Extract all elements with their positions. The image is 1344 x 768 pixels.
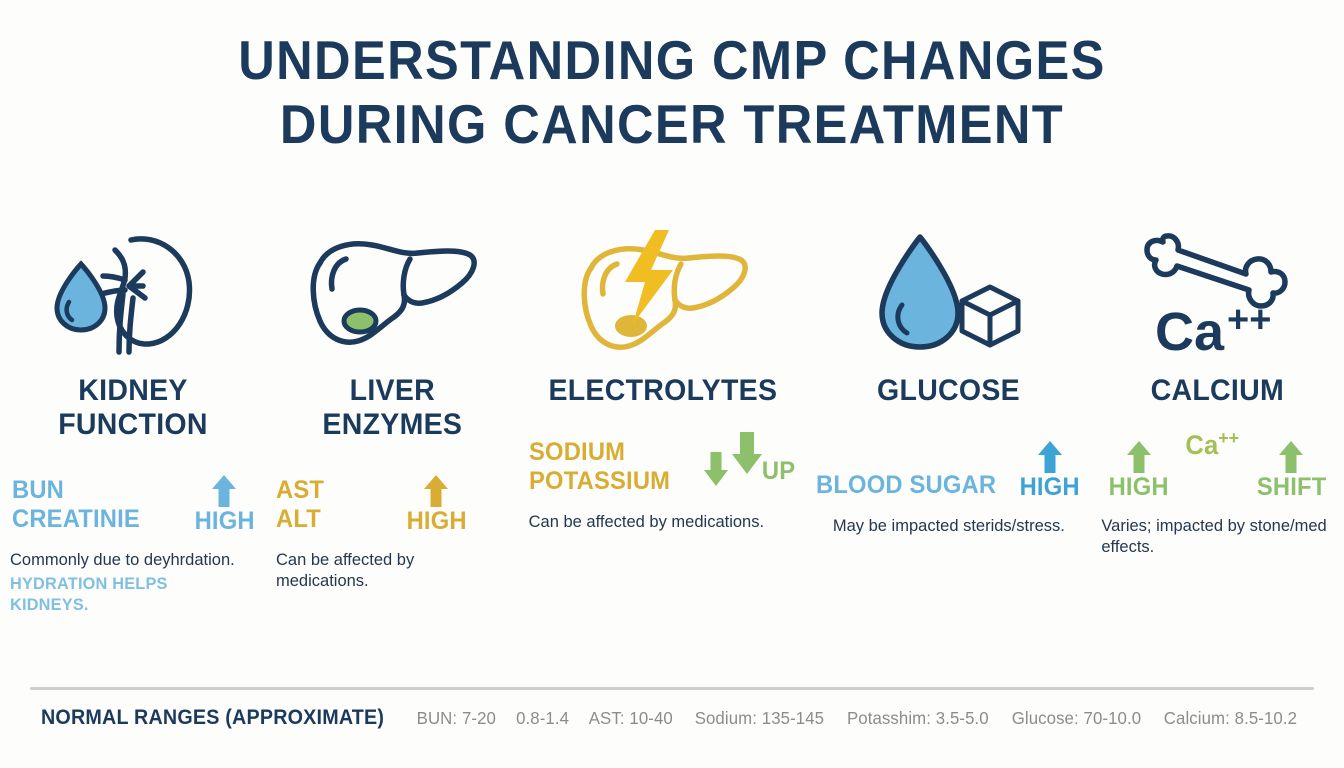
trend-indicator: HIGH [405,473,468,534]
analyte-ast: AST [276,476,324,505]
analyte-list: BUN CREATINIE [12,476,140,534]
calcium-ion-label: Ca++ [1186,428,1240,461]
body-copy: Can be affected by medications. [276,550,509,592]
marker-row: HIGH Ca++ SHIFT [1101,428,1334,500]
kidney-droplet-icon [10,222,256,364]
marker-row: BUN CREATINIE HIGH [10,462,256,534]
column-electrolytes: ELECTROLYTES SODIUM POTASSIUM UP Ca [519,222,807,533]
body-text: Varies; impacted by stone/med effects. [1101,517,1326,556]
title-line-1: UNDERSTANDING CMP CHANGES [54,28,1290,92]
column-glucose: GLUCOSE BLOOD SUGAR HIGH May be impacted… [806,222,1091,537]
column-title: ELECTROLYTES [535,374,789,408]
arrow-down-small-icon [703,448,729,488]
droplet-sugarcube-icon [816,222,1081,364]
footer-divider [30,687,1314,690]
trend-label-2: SHIFT [1257,475,1327,500]
calcium-symbol: Ca [1186,430,1219,460]
marker-row: BLOOD SUGAR HIGH [816,428,1081,500]
column-title: CALCIUM [1107,374,1328,408]
analyte-potassium: POTASSIUM [529,467,670,496]
trend-label: HIGH [1020,475,1080,500]
body-copy: Can be affected by medications. [529,512,797,533]
footer-range-sodium: Sodium: 135-145 [695,708,824,729]
liver-lightning-icon [529,222,797,364]
analyte-list: AST ALT [276,476,324,534]
trend-label: HIGH [406,509,466,534]
analyte-alt: ALT [276,505,324,534]
trend-label: HIGH [194,509,254,534]
column-kidney-function: KIDNEY FUNCTION BUN CREATINIE HIGH Commo… [0,222,266,615]
arrow-up-icon [1277,439,1305,475]
liver-icon [276,222,509,364]
column-title: GLUCOSE [823,374,1075,408]
column-title: KIDNEY FUNCTION [16,374,250,442]
title-line-2: DURING CANCER TREATMENT [54,92,1290,156]
body-text: Can be affected by medications. [276,551,414,590]
trend-indicator: HIGH [193,473,256,534]
footer: NORMAL RANGES (APPROXIMATE) BUN: 7-20 0.… [30,706,1320,730]
column-calcium: Ca ++ CALCIUM HIGH Ca++ SHIFT [1091,222,1344,558]
footer-range-glucose: Glucose: 70-10.0 [1012,708,1141,729]
body-copy: Varies; impacted by stone/med effects. [1101,516,1334,558]
trend-label: UP [762,459,795,484]
column-title: LIVER ENZYMES [282,374,503,442]
footer-range-potassium: Potasshim: 3.5-5.0 [847,708,989,729]
arrow-up-icon [1036,439,1064,475]
body-highlight: HYDRATION HELPS KIDNEYS. [10,573,246,615]
page-title: UNDERSTANDING CMP CHANGES DURING CANCER … [0,28,1344,156]
marker-row: SODIUM POTASSIUM UP [529,428,797,506]
infographic-page: UNDERSTANDING CMP CHANGES DURING CANCER … [0,0,1344,768]
trend-indicator: UP [703,428,796,484]
body-text: May be impacted sterids/stress. [833,517,1065,535]
arrow-down-large-icon [731,428,763,476]
body-copy: Commonly due to deyhrdation. HYDRATION H… [10,550,256,615]
footer-range-list: BUN: 7-20 0.8-1.4 AST: 10-40 Sodium: 135… [415,708,1320,729]
marker-row: AST ALT HIGH [276,462,509,534]
footer-range-calcium: Calcium: 8.5-10.2 [1164,708,1297,729]
trend-indicator-shift: SHIFT [1255,439,1328,500]
analyte-creatinine: CREATINIE [12,505,140,534]
analyte-bun: BUN [12,476,140,505]
arrow-up-icon [1125,439,1153,475]
svg-text:++: ++ [1227,299,1271,341]
trend-indicator: HIGH [1018,439,1081,500]
body-text: Commonly due to deyhrdation. [10,551,235,569]
calcium-charge: ++ [1219,428,1240,449]
trend-indicator-high: HIGH [1107,439,1170,500]
footer-range-bun: BUN: 7-20 [417,708,496,729]
body-copy: May be impacted sterids/stress. [816,516,1081,537]
analyte-blood-sugar: BLOOD SUGAR [816,471,996,500]
analyte-sodium: SODIUM [529,438,670,467]
column-liver-enzymes: LIVER ENZYMES AST ALT HIGH Can be affect… [266,222,519,592]
bone-calcium-icon: Ca ++ [1101,222,1334,364]
footer-range-ast: AST: 10-40 [589,708,673,729]
marker-columns: KIDNEY FUNCTION BUN CREATINIE HIGH Commo… [0,222,1344,615]
trend-label: HIGH [1109,475,1169,500]
analyte-list: BLOOD SUGAR [816,471,996,500]
analyte-list: SODIUM POTASSIUM [529,438,670,496]
body-text: Can be affected by medications. [529,513,764,531]
arrow-up-icon [422,473,450,509]
footer-title: NORMAL RANGES (APPROXIMATE) [41,706,384,730]
arrow-up-icon [210,473,238,509]
footer-range-creatinine: 0.8-1.4 [516,708,569,729]
svg-text:Ca: Ca [1155,302,1225,358]
